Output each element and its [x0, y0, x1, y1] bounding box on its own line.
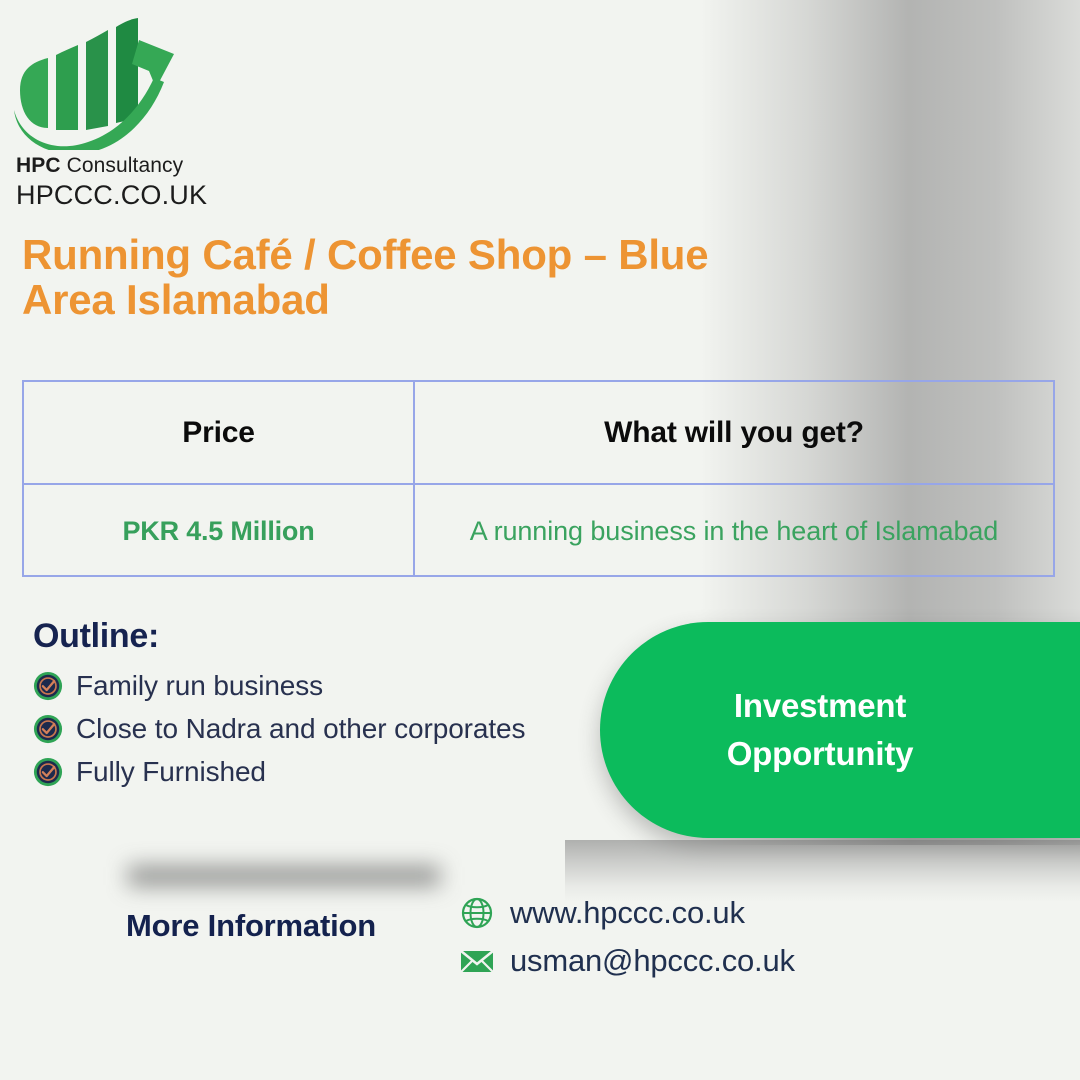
benefit-value: A running business in the heart of Islam…	[470, 516, 998, 547]
growth-bar-chart-arrow-icon	[8, 18, 178, 150]
poster-canvas: HPC Consultancy HPCCC.CO.UK Running Café…	[0, 0, 1080, 1080]
table-header-row: Price What will you get?	[24, 382, 1053, 485]
list-item: Close to Nadra and other corporates	[33, 708, 633, 750]
outline-item-label: Family run business	[76, 670, 323, 702]
brand-logo: HPC Consultancy HPCCC.CO.UK	[8, 18, 308, 211]
check-circle-icon	[33, 714, 63, 744]
envelope-icon	[458, 942, 496, 980]
contact-list: www.hpccc.co.uk usman@hpccc.co.uk	[458, 890, 795, 986]
contact-email-label: usman@hpccc.co.uk	[510, 943, 795, 979]
outline-item-label: Fully Furnished	[76, 756, 266, 788]
table-header-benefit: What will you get?	[415, 382, 1053, 483]
table-row: PKR 4.5 Million A running business in th…	[24, 485, 1053, 577]
contact-website-label: www.hpccc.co.uk	[510, 895, 745, 931]
brand-name-bold: HPC	[16, 154, 61, 177]
outline-list: Family run business Close to Nadra and o…	[33, 665, 633, 794]
outline-heading: Outline:	[33, 617, 159, 656]
check-circle-icon	[33, 757, 63, 787]
table-header-benefit-label: What will you get?	[604, 416, 864, 450]
brand-name-rest: Consultancy	[61, 154, 184, 177]
contact-website[interactable]: www.hpccc.co.uk	[458, 890, 795, 936]
more-information-heading: More Information	[126, 908, 376, 944]
table-cell-price: PKR 4.5 Million	[24, 485, 415, 577]
check-circle-icon	[33, 671, 63, 701]
more-information-shadow	[128, 866, 440, 886]
list-item: Family run business	[33, 665, 633, 707]
price-value: PKR 4.5 Million	[122, 516, 314, 547]
table-header-price: Price	[24, 382, 415, 483]
globe-icon	[458, 894, 496, 932]
investment-opportunity-label: Investment Opportunity	[675, 682, 965, 778]
brand-name: HPC Consultancy	[16, 154, 308, 178]
table-cell-benefit: A running business in the heart of Islam…	[415, 485, 1053, 577]
list-item: Fully Furnished	[33, 751, 633, 793]
details-table: Price What will you get? PKR 4.5 Million…	[22, 380, 1055, 577]
page-title: Running Café / Coffee Shop – Blue Area I…	[22, 232, 742, 323]
outline-item-label: Close to Nadra and other corporates	[76, 713, 525, 745]
investment-opportunity-badge: Investment Opportunity	[600, 622, 1080, 838]
brand-domain: HPCCC.CO.UK	[16, 180, 308, 211]
investment-opportunity-line2: Opportunity	[675, 730, 965, 778]
investment-opportunity-line1: Investment	[675, 682, 965, 730]
table-header-price-label: Price	[182, 416, 254, 450]
contact-email[interactable]: usman@hpccc.co.uk	[458, 938, 795, 984]
